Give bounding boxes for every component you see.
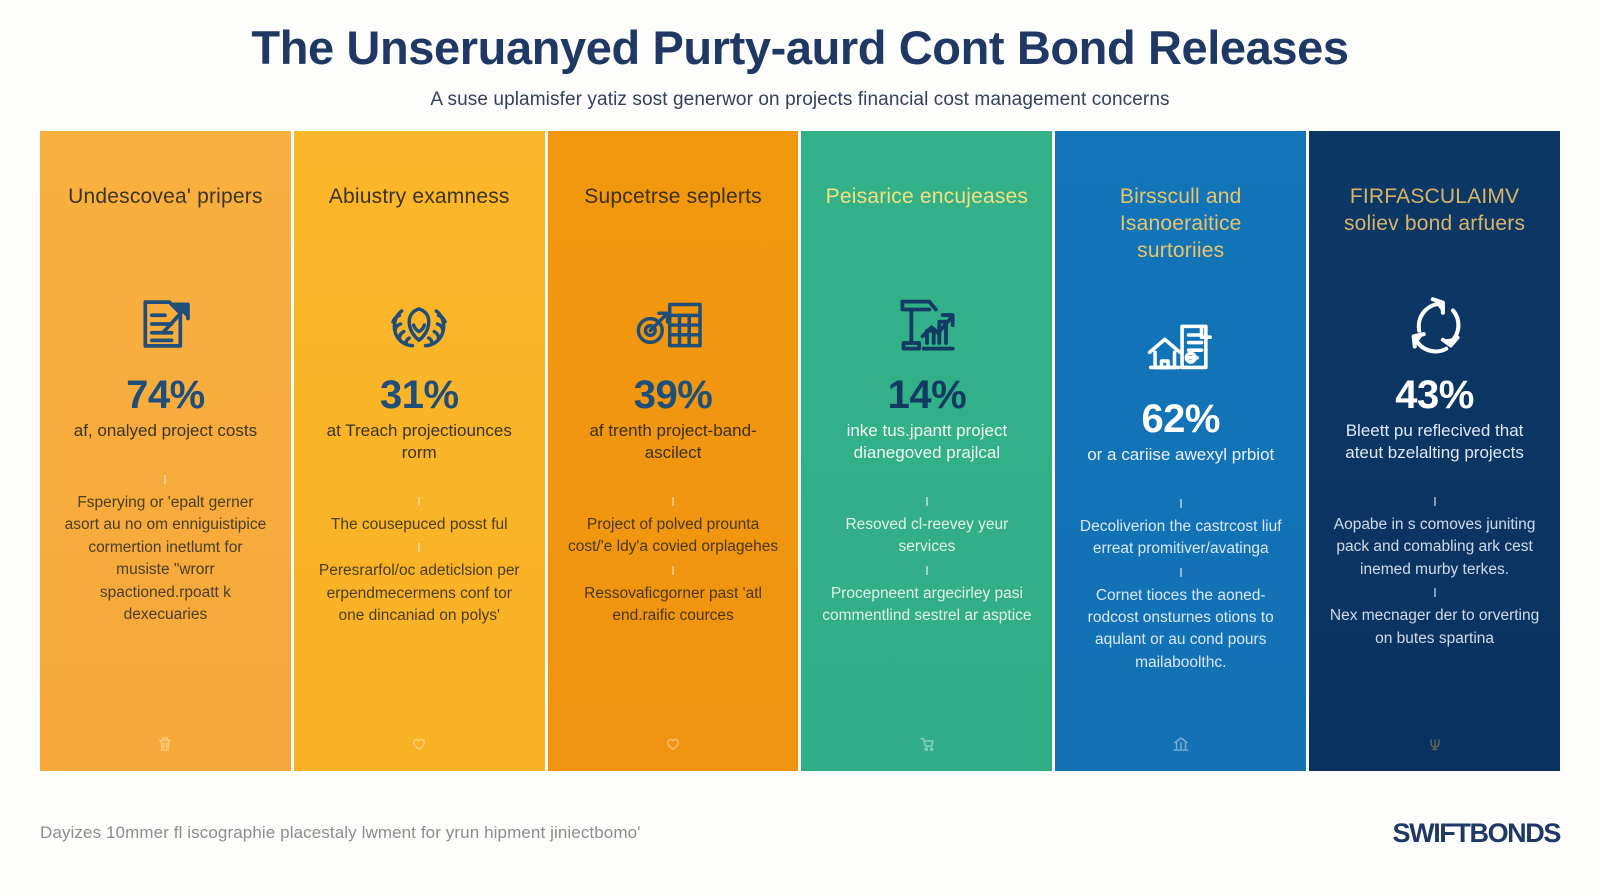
column-bullets: Aopabe in s comoves juniting pack and co… bbox=[1329, 490, 1540, 650]
heart-icon bbox=[664, 727, 682, 753]
trash-icon bbox=[156, 727, 174, 753]
house-contract-icon bbox=[1141, 309, 1221, 387]
column-stat-label: Bleett pu reflecived that ateut bzelalti… bbox=[1329, 420, 1540, 464]
bullet-separator bbox=[1180, 499, 1182, 508]
column-stat: 39% bbox=[634, 373, 713, 418]
column-stat-label: or a cariise awexyl prbiot bbox=[1087, 444, 1274, 466]
footer-note: Dayizes 10mmer fl iscographie placestaly… bbox=[40, 823, 641, 843]
column-bullets: Project of polved prounta cost/'e ldy'a … bbox=[568, 490, 779, 628]
bullet-separator bbox=[418, 543, 420, 552]
bullet-item: Procepneent argecirley pasi commentlind … bbox=[821, 583, 1032, 628]
circular-arrows-refresh-icon bbox=[1397, 285, 1473, 363]
crane-bar-chart-icon bbox=[889, 285, 965, 363]
bullet-separator bbox=[418, 497, 420, 506]
bullet-item: Cornet tioces the aoned-rodcost onsturne… bbox=[1075, 585, 1286, 675]
bullet-item: Aopabe in s comoves juniting pack and co… bbox=[1329, 514, 1540, 581]
column-heading: FIRFASCULAIMV soliev bond arfuers bbox=[1329, 183, 1540, 241]
heart-icon bbox=[410, 727, 428, 753]
stat-column-4[interactable]: Peisarice encujeases 14% inke tus.jpantt… bbox=[801, 131, 1052, 771]
column-stat: 43% bbox=[1395, 373, 1474, 418]
stat-column-1[interactable]: Undescovea' pripers 74% af, onalyed proj… bbox=[40, 131, 291, 771]
bullet-separator bbox=[926, 566, 928, 575]
bullet-item: Resoved cl-reevey yeur services bbox=[821, 514, 1032, 559]
bullet-item: Decoliverion the castrcost liuf erreat p… bbox=[1075, 516, 1286, 561]
bullet-separator bbox=[1434, 497, 1436, 506]
column-bullets: Resoved cl-reevey yeur services Procepne… bbox=[821, 490, 1032, 628]
footer: Dayizes 10mmer fl iscographie placestaly… bbox=[40, 771, 1560, 896]
bullet-item: The cousepuced posst ful bbox=[314, 514, 525, 536]
column-bullets: Fsperying or 'epalt gerner asort au no o… bbox=[60, 468, 271, 627]
column-stat: 31% bbox=[380, 373, 459, 418]
stat-column-3[interactable]: Supcetrse seplerts 39% af trenth project… bbox=[548, 131, 799, 771]
column-bullets: Decoliverion the castrcost liuf erreat p… bbox=[1075, 492, 1286, 675]
bullet-item: Nex mecnager der to orverting on butes s… bbox=[1329, 605, 1540, 650]
stat-column-2[interactable]: Abiustry examness 31% at Treach projecti… bbox=[294, 131, 545, 771]
bank-icon bbox=[1172, 727, 1190, 753]
cart-icon bbox=[918, 727, 936, 753]
column-heading: Abiustry examness bbox=[329, 183, 510, 241]
brand-logo: SWIFTBONDS bbox=[1393, 818, 1561, 849]
column-heading: Undescovea' pripers bbox=[68, 183, 263, 241]
bullet-separator bbox=[672, 497, 674, 506]
column-heading: Supcetrse seplerts bbox=[584, 183, 762, 241]
bullet-separator bbox=[164, 475, 166, 484]
bullet-item: Ressovaficgorner past 'atl end.raific co… bbox=[568, 583, 779, 628]
infographic-page: The Unseruanyed Purty-aurd Cont Bond Rel… bbox=[0, 0, 1600, 896]
column-stat: 14% bbox=[888, 373, 967, 418]
column-heading: Peisarice encujeases bbox=[826, 183, 1028, 241]
bullet-separator bbox=[1434, 588, 1436, 597]
column-bullets: The cousepuced posst ful Peresrarfol/oc … bbox=[314, 490, 525, 628]
trident-icon bbox=[1427, 727, 1443, 753]
header: The Unseruanyed Purty-aurd Cont Bond Rel… bbox=[0, 0, 1600, 111]
target-calendar-icon bbox=[633, 285, 713, 363]
stat-column-5[interactable]: Birsscull and Isanoeraitice surtoriies 6… bbox=[1055, 131, 1306, 771]
column-heading: Birsscull and Isanoeraitice surtoriies bbox=[1075, 183, 1286, 265]
bullet-item: Peresrarfol/oc adeticlsion per erpendmec… bbox=[314, 560, 525, 627]
column-stat: 62% bbox=[1141, 397, 1220, 442]
column-stat: 74% bbox=[126, 373, 205, 418]
bullet-separator bbox=[672, 566, 674, 575]
column-stat-label: af trenth project-band-ascilect bbox=[568, 420, 779, 464]
laurel-wreath-shield-icon bbox=[380, 285, 458, 363]
bullet-separator bbox=[926, 497, 928, 506]
page-title: The Unseruanyed Purty-aurd Cont Bond Rel… bbox=[0, 22, 1600, 75]
bullet-item: Fsperying or 'epalt gerner asort au no o… bbox=[60, 492, 271, 627]
page-subtitle: A suse uplamisfer yatiz sost generwor on… bbox=[0, 89, 1600, 111]
column-stat-label: inke tus.jpantt project dianegoved prajl… bbox=[821, 420, 1032, 464]
bullet-separator bbox=[1180, 568, 1182, 577]
bullet-item: Project of polved prounta cost/'e ldy'a … bbox=[568, 514, 779, 559]
column-stat-label: at Treach projectiounces rorm bbox=[314, 420, 525, 464]
column-stat-label: af, onalyed project costs bbox=[74, 420, 257, 442]
document-growth-arrow-icon bbox=[130, 285, 200, 363]
stat-columns: Undescovea' pripers 74% af, onalyed proj… bbox=[40, 131, 1560, 771]
stat-column-6[interactable]: FIRFASCULAIMV soliev bond arfuers 43% Bl… bbox=[1309, 131, 1560, 771]
